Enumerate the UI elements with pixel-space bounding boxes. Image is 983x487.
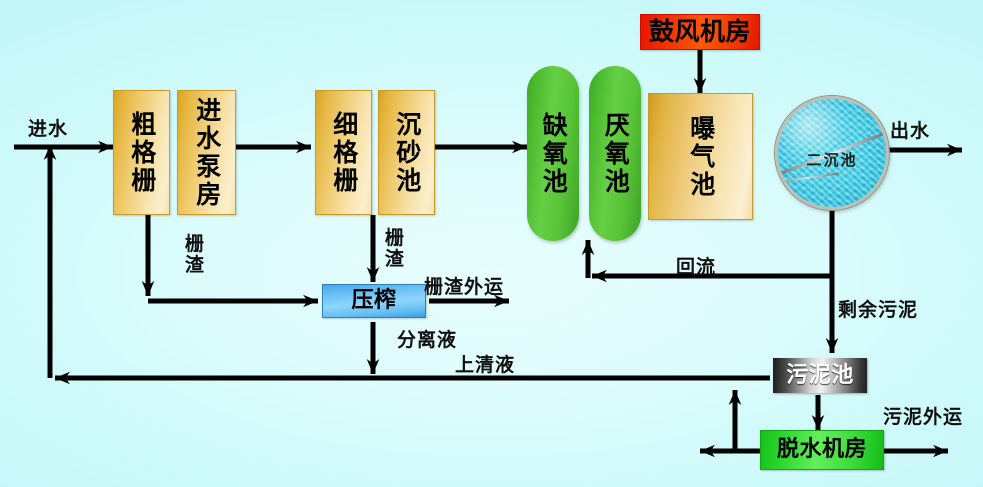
node-coarse-screen[interactable]: 粗格栅 <box>113 90 170 215</box>
label-screenings-coarse: 栅渣 <box>182 234 208 277</box>
label-excess-sludge: 剩余污泥 <box>838 295 918 322</box>
flow-connectors <box>0 0 983 487</box>
node-secondary-clarifier[interactable]: 二沉池 <box>775 96 889 210</box>
label-separated-liquid: 分离液 <box>397 325 457 352</box>
node-press[interactable]: 压榨 <box>322 284 426 318</box>
label-return-sludge: 回流 <box>676 252 716 279</box>
label-sludge-haul-out: 污泥外运 <box>883 402 963 429</box>
node-press-label: 压榨 <box>351 289 396 312</box>
node-inlet-pump-house-label: 进水泵房 <box>193 97 220 209</box>
node-anaerobic-tank[interactable]: 厌氧池 <box>589 66 641 241</box>
node-fine-screen-label: 细格栅 <box>330 111 357 195</box>
node-fine-screen[interactable]: 细格栅 <box>315 90 372 215</box>
node-anaerobic-tank-label: 厌氧池 <box>602 112 629 196</box>
node-dewatering-room-label: 脱水机房 <box>777 438 867 461</box>
node-secondary-clarifier-label: 二沉池 <box>778 149 886 170</box>
node-blower-room-label: 鼓风机房 <box>649 19 751 46</box>
process-flow-diagram: 粗格栅 进水泵房 细格栅 沉砂池 缺氧池 厌氧池 曝气池 鼓风机房 二沉池 压榨… <box>0 0 983 487</box>
node-grit-chamber[interactable]: 沉砂池 <box>378 90 435 215</box>
clarifier-scraper-icon <box>775 172 838 183</box>
node-dewatering-room[interactable]: 脱水机房 <box>760 430 884 470</box>
node-aeration-tank-label: 曝气池 <box>687 115 714 199</box>
label-influent: 进水 <box>28 114 68 141</box>
node-anoxic-tank-label: 缺氧池 <box>540 112 567 196</box>
node-sludge-tank[interactable]: 污泥池 <box>773 358 867 393</box>
node-blower-room[interactable]: 鼓风机房 <box>640 14 760 50</box>
node-inlet-pump-house[interactable]: 进水泵房 <box>177 90 236 215</box>
label-supernatant: 上清液 <box>455 350 515 377</box>
label-screenings-fine: 栅渣 <box>382 228 408 271</box>
node-aeration-tank[interactable]: 曝气池 <box>648 93 753 220</box>
label-effluent: 出水 <box>890 116 930 143</box>
label-screenings-haul-out: 栅渣外运 <box>424 272 504 299</box>
node-sludge-tank-label: 污泥池 <box>786 364 854 387</box>
node-coarse-screen-label: 粗格栅 <box>128 111 155 195</box>
node-anoxic-tank[interactable]: 缺氧池 <box>527 66 579 241</box>
node-grit-chamber-label: 沉砂池 <box>393 111 420 195</box>
